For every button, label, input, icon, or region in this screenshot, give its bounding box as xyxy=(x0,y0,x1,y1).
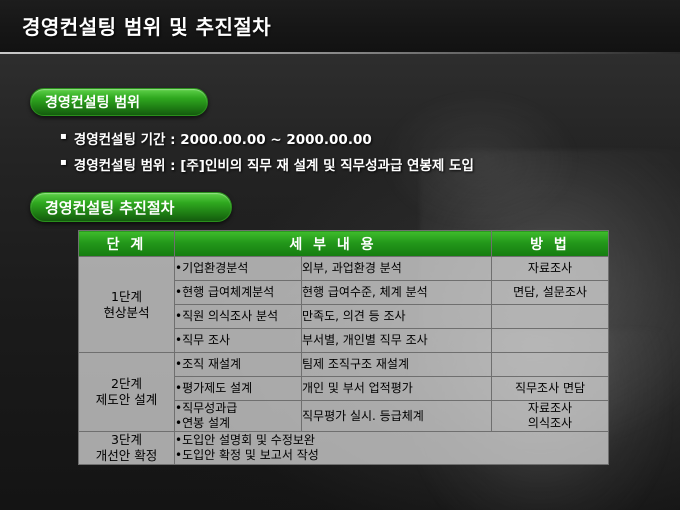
scope-bullet-list: ▪ 경영컨설팅 기간 : 2000.00.00 ~ 2000.00.00 ▪ 경… xyxy=(60,128,660,180)
section-banner-process: 경영컨설팅 추진절차 xyxy=(30,192,232,222)
section-banner-process-label: 경영컨설팅 추진절차 xyxy=(45,197,174,218)
table-cell-detail: 부서별, 개인별 직무 조사 xyxy=(302,329,492,353)
list-item-label: 경영컨설팅 범위 : [주]인비의 직무 재 설계 및 직무성과급 연봉제 도입 xyxy=(74,154,474,174)
table-cell-subtask: •직원 의식조사 분석 xyxy=(175,305,302,329)
list-item: ▪ 경영컨설팅 기간 : 2000.00.00 ~ 2000.00.00 xyxy=(60,128,660,148)
section-banner-scope: 경영컨설팅 범위 xyxy=(30,88,208,116)
table-cell-detail: 현행 급여수준, 체계 분석 xyxy=(302,281,492,305)
table-cell-subtask: •현행 급여체계분석 xyxy=(175,281,302,305)
table-cell-stage: 1단계현상분석 xyxy=(79,257,175,353)
table-body: 1단계현상분석•기업환경분석외부, 과업환경 분석자료조사•현행 급여체계분석현… xyxy=(79,257,609,465)
table-cell-method: 자료조사의식조사 xyxy=(492,401,609,432)
table-header: 단 계 세 부 내 용 방 법 xyxy=(79,231,609,257)
table-cell-method: 직무조사 면담 xyxy=(492,377,609,401)
list-item-label: 경영컨설팅 기간 : 2000.00.00 ~ 2000.00.00 xyxy=(74,128,372,148)
table-cell-subtask: •조직 재설계 xyxy=(175,353,302,377)
table-row: 2단계제도안 설계•조직 재설계팀제 조직구조 재설계 xyxy=(79,353,609,377)
table-cell-detail: 만족도, 의견 등 조사 xyxy=(302,305,492,329)
slide: 경영컨설팅 범위 및 추진절차 경영컨설팅 범위 ▪ 경영컨설팅 기간 : 20… xyxy=(0,0,680,510)
table-cell-subtask: •직무성과급•연봉 설계 xyxy=(175,401,302,432)
table-cell-detail: 외부, 과업환경 분석 xyxy=(302,257,492,281)
table-cell-method xyxy=(492,329,609,353)
process-table-container: 단 계 세 부 내 용 방 법 1단계현상분석•기업환경분석외부, 과업환경 분… xyxy=(78,230,608,465)
table-cell-method xyxy=(492,305,609,329)
table-cell-subtask: •평가제도 설계 xyxy=(175,377,302,401)
column-header-stage: 단 계 xyxy=(79,231,175,257)
table-cell-stage: 2단계제도안 설계 xyxy=(79,353,175,432)
table-cell-detail: 직무평가 실시. 등급체계 xyxy=(302,401,492,432)
table-row: 1단계현상분석•기업환경분석외부, 과업환경 분석자료조사 xyxy=(79,257,609,281)
process-table: 단 계 세 부 내 용 방 법 1단계현상분석•기업환경분석외부, 과업환경 분… xyxy=(78,230,609,465)
table-cell-stage: 3단계개선안 확정 xyxy=(79,432,175,465)
table-header-row: 단 계 세 부 내 용 방 법 xyxy=(79,231,609,257)
column-header-detail: 세 부 내 용 xyxy=(175,231,492,257)
table-cell-method: 면담, 설문조사 xyxy=(492,281,609,305)
column-header-method: 방 법 xyxy=(492,231,609,257)
table-cell-method: 자료조사 xyxy=(492,257,609,281)
page-title: 경영컨설팅 범위 및 추진절차 xyxy=(22,11,271,40)
table-cell-subtask: •도입안 설명회 및 수정보완•도입안 확정 및 보고서 작성 xyxy=(175,432,609,465)
section-banner-scope-label: 경영컨설팅 범위 xyxy=(45,92,140,112)
header-divider xyxy=(0,52,680,54)
table-cell-detail: 팀제 조직구조 재설계 xyxy=(302,353,492,377)
table-row: 3단계개선안 확정•도입안 설명회 및 수정보완•도입안 확정 및 보고서 작성 xyxy=(79,432,609,465)
table-cell-method xyxy=(492,353,609,377)
list-item: ▪ 경영컨설팅 범위 : [주]인비의 직무 재 설계 및 직무성과급 연봉제 … xyxy=(60,154,660,174)
table-cell-subtask: •직무 조사 xyxy=(175,329,302,353)
bullet-icon: ▪ xyxy=(60,154,67,172)
table-cell-detail: 개인 및 부서 업적평가 xyxy=(302,377,492,401)
table-cell-subtask: •기업환경분석 xyxy=(175,257,302,281)
bullet-icon: ▪ xyxy=(60,128,67,146)
